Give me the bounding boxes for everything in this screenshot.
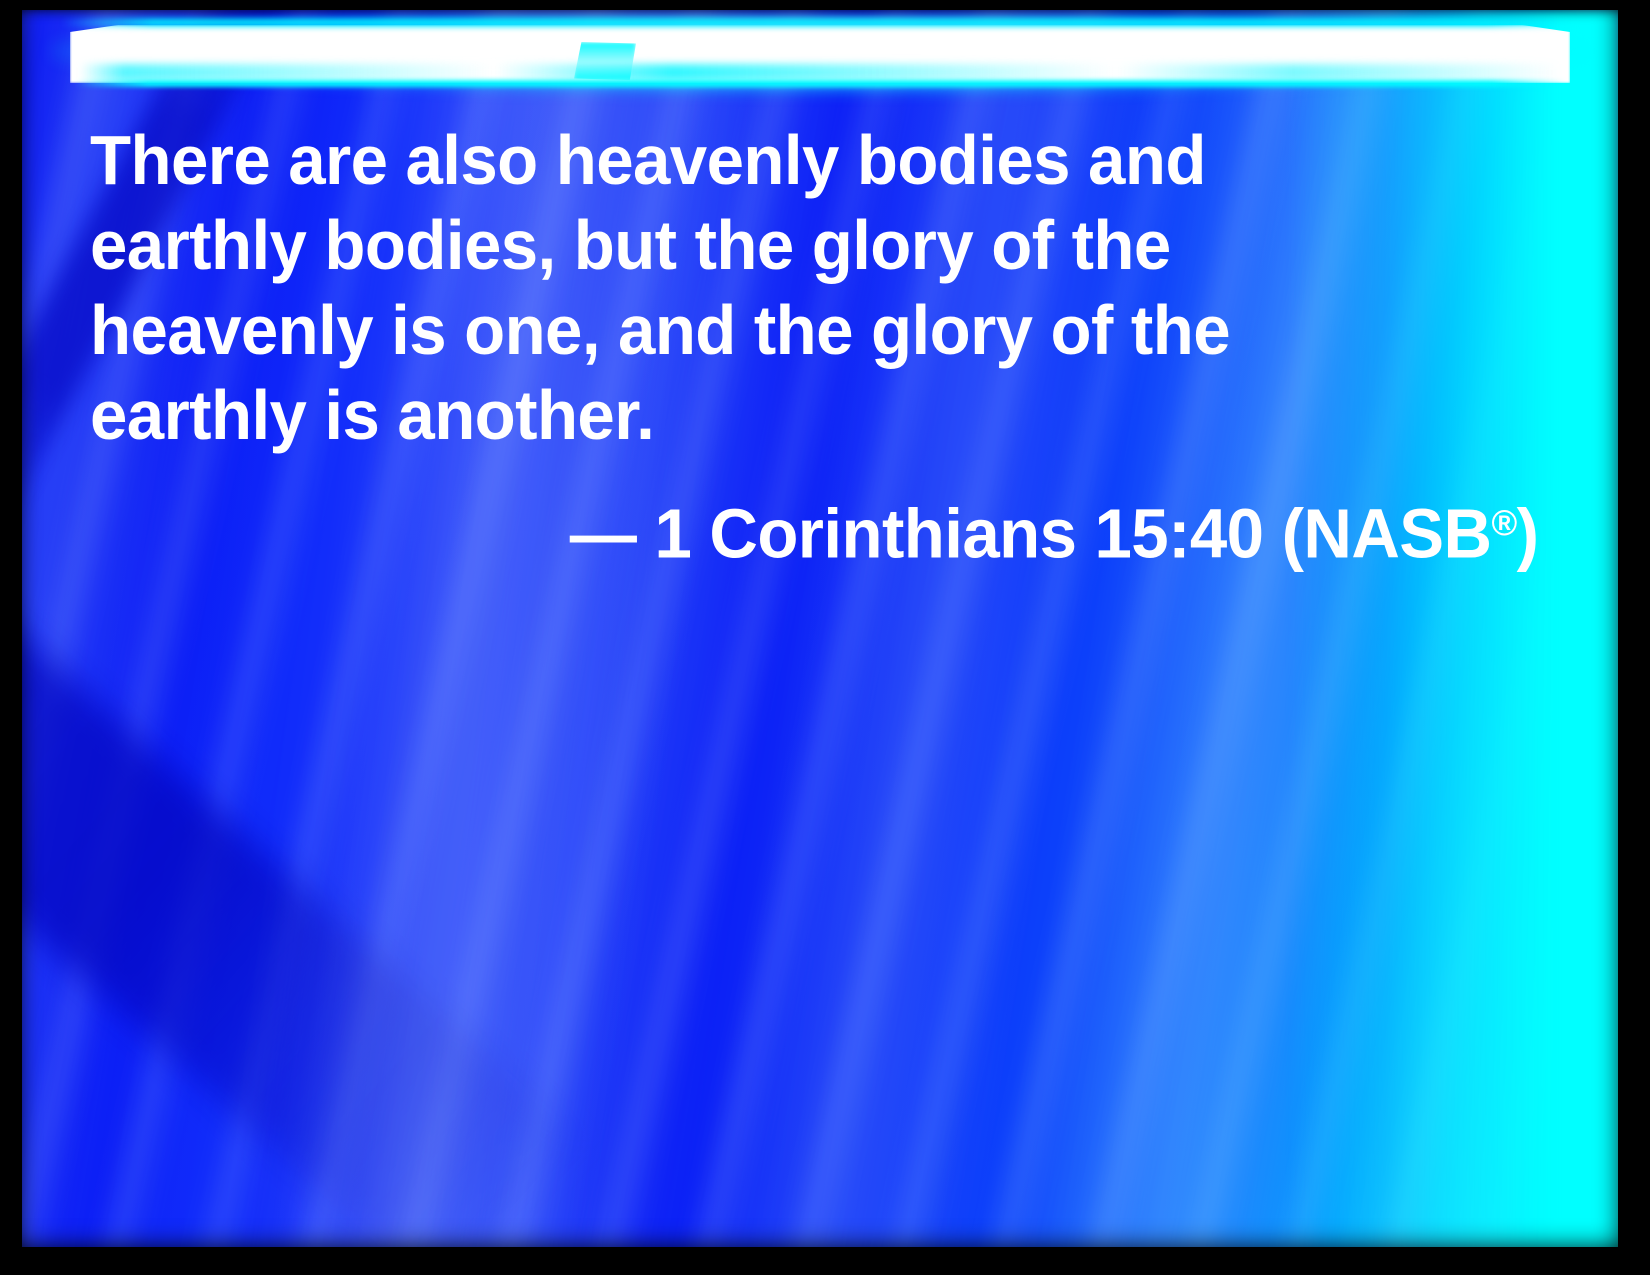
citation-close-paren: ) [1517, 495, 1539, 573]
slide-frame-right-edge [1628, 0, 1650, 1275]
slide-stage: There are also heavenly bodies and earth… [22, 10, 1618, 1250]
citation-em-dash: — [570, 495, 637, 573]
citation-reference: 1 Corinthians 15:40 [654, 495, 1263, 573]
slide-frame-left-edge [0, 0, 14, 1275]
verse-line-3: heavenly is one, and the glory of the [90, 288, 1492, 373]
verse-line-2: earthly bodies, but the glory of the [90, 203, 1492, 288]
verse-text-block: There are also heavenly bodies and earth… [90, 118, 1550, 577]
slide-frame-top-edge [0, 0, 1650, 9]
verse-line-1: There are also heavenly bodies and [90, 118, 1492, 203]
verse-slide: There are also heavenly bodies and earth… [0, 0, 1650, 1275]
slide-frame-bottom-edge [0, 1247, 1650, 1275]
citation-translation: NASB [1303, 495, 1491, 573]
verse-citation: — 1 Corinthians 15:40 (NASB®) [148, 480, 1550, 577]
verse-line-4: earthly is another. [90, 373, 1492, 458]
citation-open-paren: ( [1282, 495, 1304, 573]
registered-trademark-icon: ® [1492, 502, 1517, 543]
